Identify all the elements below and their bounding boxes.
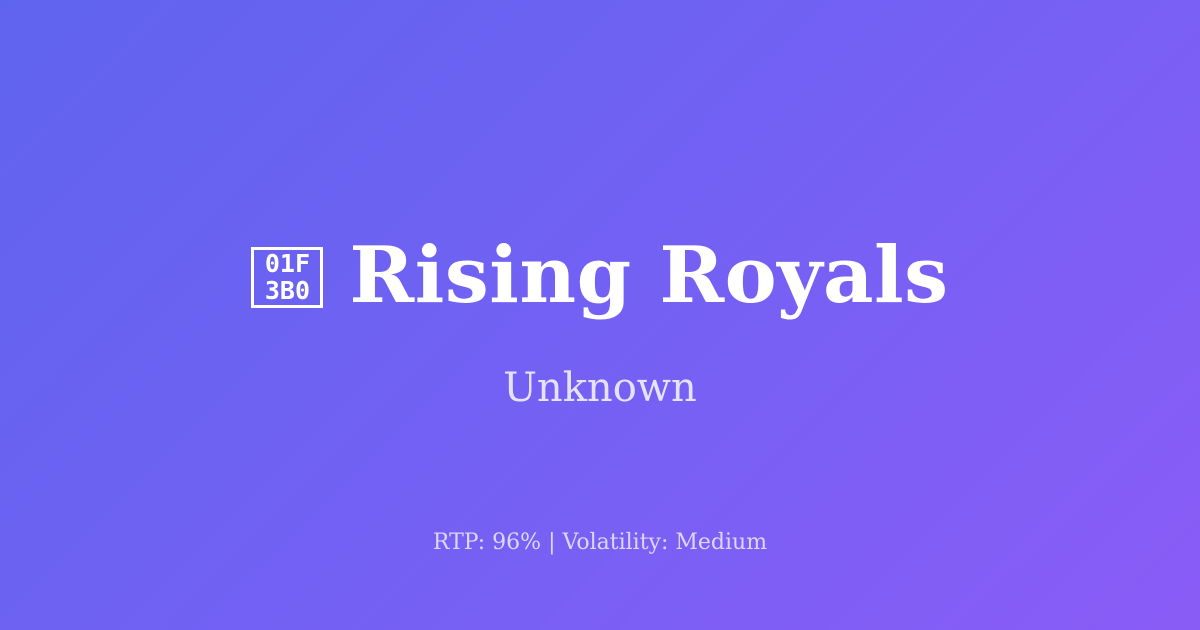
- title-row: 01F 3B0 Rising Royals: [0, 232, 1200, 320]
- game-meta-line: RTP: 96% | Volatility: Medium: [0, 528, 1200, 558]
- tofu-codepoint-bottom: 3B0: [265, 277, 310, 304]
- share-card: 01F 3B0 Rising Royals Unknown RTP: 96% |…: [0, 0, 1200, 630]
- slot-machine-emoji-tofu-icon: 01F 3B0: [251, 247, 323, 308]
- subtitle: Unknown: [0, 364, 1200, 412]
- tofu-codepoint-top: 01F: [265, 250, 310, 277]
- page-title: Rising Royals: [349, 232, 948, 320]
